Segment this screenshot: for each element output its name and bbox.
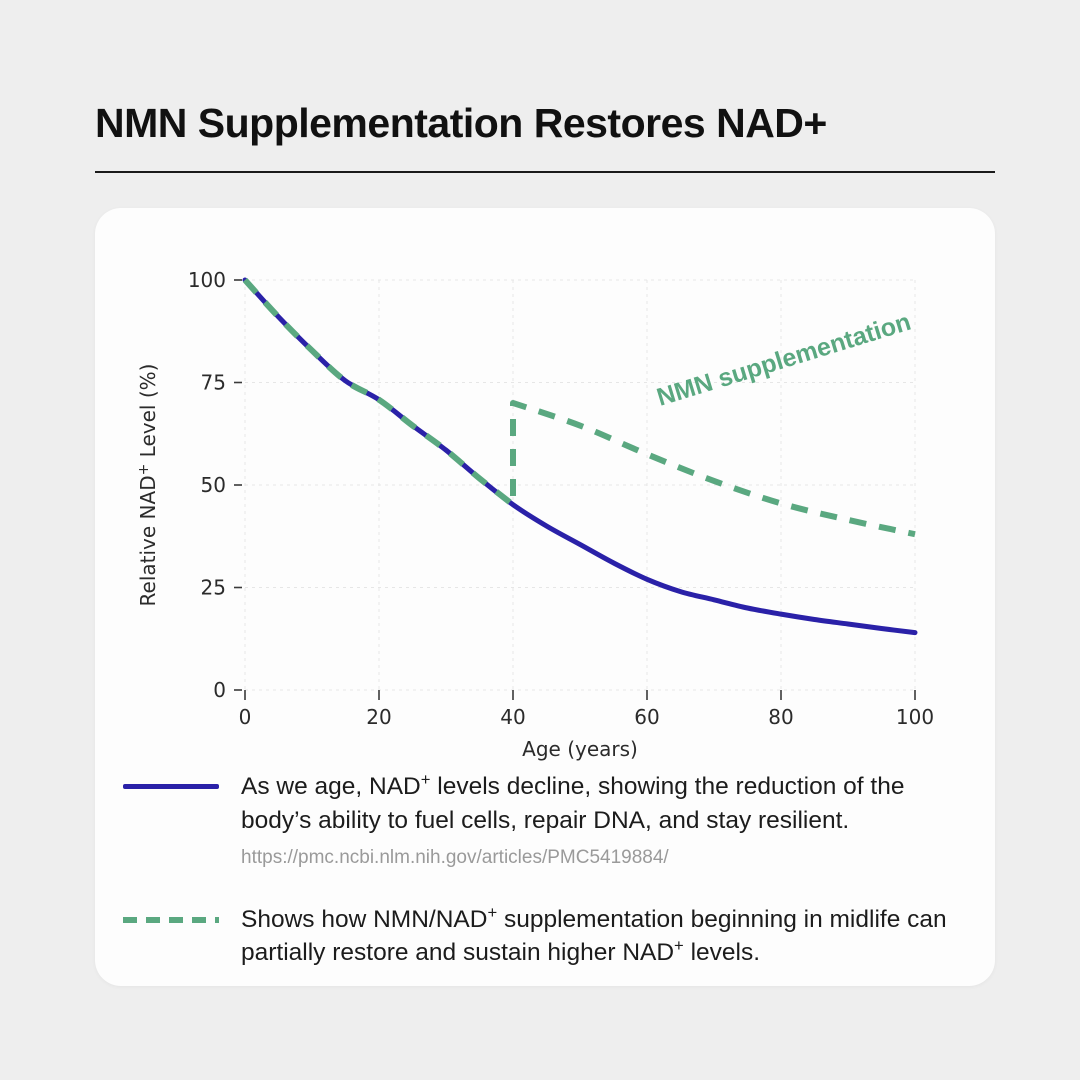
x-tick-label-40: 40 [500, 705, 525, 729]
y-tick-label-75: 75 [201, 371, 226, 395]
x-tick-label-20: 20 [366, 705, 391, 729]
y-axis-title-part2: Level (%) [136, 364, 160, 464]
y-axis: 100 75 50 25 0 [188, 268, 242, 702]
nad-decline-chart: 100 75 50 25 0 Relative NAD+ Level (%) [95, 208, 995, 768]
chart-annotation-nmn: NMN supplementation [654, 308, 915, 412]
poster-root: NMN Supplementation Restores NAD+ [0, 0, 1080, 1080]
legend-entry-decline: As we age, NAD+ levels decline, showing … [123, 770, 967, 869]
legend-supp-part3: levels. [684, 939, 760, 966]
chart-container: 100 75 50 25 0 Relative NAD+ Level (%) [95, 208, 995, 768]
legend-description-supplementation: Shows how NMN/NAD+ supplementation begin… [241, 903, 967, 971]
page-title: NMN Supplementation Restores NAD+ [95, 100, 995, 147]
legend-entry-decline-text: As we age, NAD+ levels decline, showing … [241, 770, 967, 869]
legend-swatch-solid-line [123, 784, 219, 789]
y-axis-title-superscript: + [136, 464, 152, 476]
x-tick-label-60: 60 [634, 705, 659, 729]
legend-source-url[interactable]: https://pmc.ncbi.nlm.nih.gov/articles/PM… [241, 847, 967, 869]
title-divider [95, 171, 995, 173]
x-tick-label-80: 80 [768, 705, 793, 729]
y-axis-title-part1: Relative NAD [136, 475, 160, 606]
svg-text:NMN supplementation: NMN supplementation [654, 308, 915, 412]
title-block: NMN Supplementation Restores NAD+ [95, 100, 995, 173]
legend-decline-part1: As we age, NAD [241, 773, 421, 800]
y-axis-title: Relative NAD+ Level (%) [136, 364, 160, 607]
x-tick-label-0: 0 [239, 705, 252, 729]
legend-supp-part1: Shows how NMN/NAD [241, 906, 487, 933]
legend-description-decline: As we age, NAD+ levels decline, showing … [241, 770, 967, 838]
series-line-decline [245, 280, 915, 633]
chart-card: 100 75 50 25 0 Relative NAD+ Level (%) [95, 208, 995, 986]
series-line-supplementation [245, 280, 915, 534]
y-tick-label-100: 100 [188, 268, 226, 292]
x-tick-label-100: 100 [896, 705, 934, 729]
legend-supp-superscript2: + [674, 936, 684, 955]
legend-entry-supplementation-text: Shows how NMN/NAD+ supplementation begin… [241, 903, 967, 971]
x-axis-title: Age (years) [522, 737, 638, 761]
legend-swatch-dashed-line [123, 917, 219, 923]
y-tick-label-0: 0 [213, 678, 226, 702]
svg-text:Relative NAD+ Level (%): Relative NAD+ Level (%) [136, 364, 160, 607]
y-tick-label-25: 25 [201, 576, 226, 600]
x-axis: 0 20 40 60 80 100 Age (years) [239, 690, 934, 761]
y-tick-label-50: 50 [201, 473, 226, 497]
legend-supp-superscript1: + [487, 902, 497, 921]
legend-entry-supplementation: Shows how NMN/NAD+ supplementation begin… [123, 903, 967, 971]
chart-legend: As we age, NAD+ levels decline, showing … [95, 770, 995, 970]
